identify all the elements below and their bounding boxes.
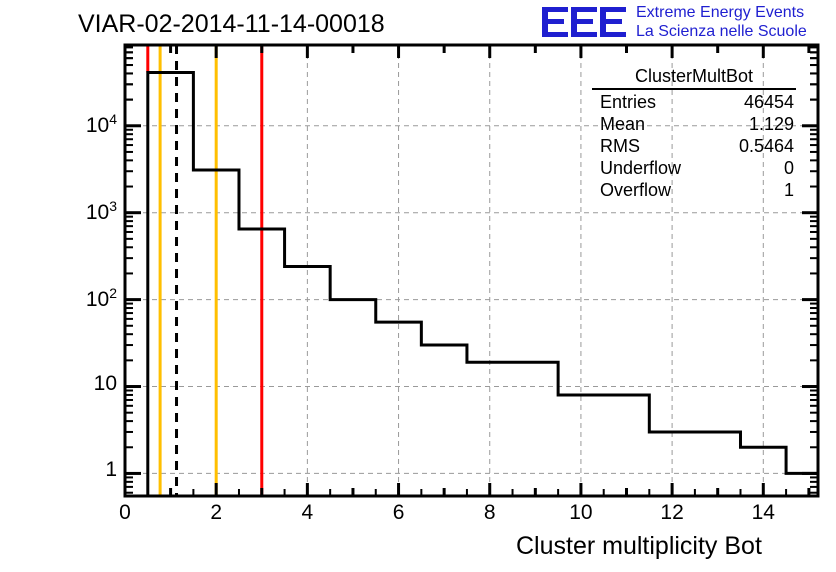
- stats-row: Overflow1: [592, 179, 796, 201]
- eee-logo-text: Extreme Energy Events La Scienza nelle S…: [636, 3, 807, 41]
- stats-box: ClusterMultBot Entries46454Mean1.129RMS0…: [592, 66, 796, 201]
- stats-row-value: 46454: [744, 91, 794, 113]
- x-tick-label: 4: [282, 501, 332, 525]
- x-tick-label: 6: [374, 501, 424, 525]
- y-tick-label: 102: [9, 285, 117, 312]
- stats-row: Entries46454: [592, 91, 796, 113]
- stats-row-value: 0: [784, 157, 794, 179]
- stats-row: RMS0.5464: [592, 135, 796, 157]
- stats-row-value: 1.129: [749, 113, 794, 135]
- stats-row-key: Overflow: [600, 179, 671, 201]
- x-tick-label: 8: [465, 501, 515, 525]
- stats-row-value: 0.5464: [739, 135, 794, 157]
- x-tick-label: 10: [556, 501, 606, 525]
- x-tick-label: 14: [738, 501, 788, 525]
- stats-rows: Entries46454Mean1.129RMS0.5464Underflow0…: [592, 91, 796, 201]
- page-title: VIAR-02-2014-11-14-00018: [78, 10, 385, 39]
- y-tick-label: 103: [9, 198, 117, 225]
- stats-row: Mean1.129: [592, 113, 796, 135]
- eee-mark-icon: [540, 5, 628, 39]
- stats-row-key: RMS: [600, 135, 640, 157]
- y-tick-label: 10: [9, 372, 117, 396]
- y-tick-label: 104: [9, 111, 117, 138]
- x-tick-label: 12: [647, 501, 697, 525]
- x-axis-title: Cluster multiplicity Bot: [516, 532, 762, 561]
- stats-row-key: Entries: [600, 91, 656, 113]
- stats-row-value: 1: [784, 179, 794, 201]
- stats-box-title: ClusterMultBot: [592, 66, 796, 90]
- y-tick-label: 1: [9, 458, 117, 482]
- x-tick-label: 0: [100, 501, 150, 525]
- eee-logo-line2: La Scienza nelle Scuole: [636, 22, 807, 41]
- x-tick-label: 2: [191, 501, 241, 525]
- eee-logo: Extreme Energy Events La Scienza nelle S…: [540, 2, 836, 42]
- stats-row: Underflow0: [592, 157, 796, 179]
- stats-row-key: Mean: [600, 113, 645, 135]
- eee-logo-line1: Extreme Energy Events: [636, 3, 807, 22]
- stats-row-key: Underflow: [600, 157, 681, 179]
